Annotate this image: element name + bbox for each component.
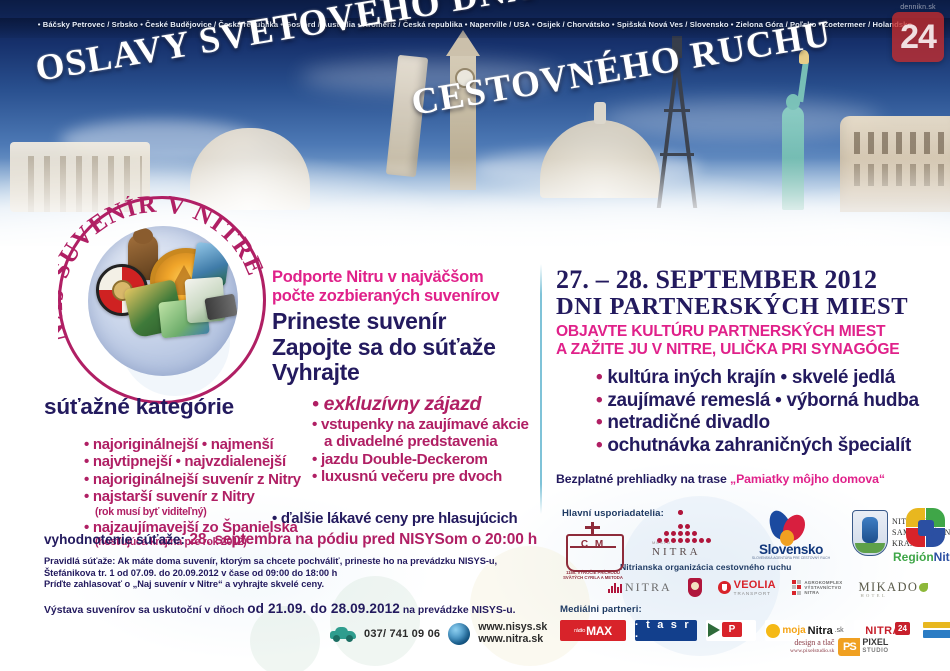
- rules-line-1: Pravidlá súťaže: Ak máte doma suvenír, k…: [44, 556, 514, 568]
- cloud-wisp: [600, 100, 880, 140]
- prize-item-last: ďalšie lákavé ceny pre hlasujúcich: [272, 510, 517, 527]
- tagline-line-1: OBJAVTE KULTÚRU PARTNERSKÝCH MIEST: [556, 323, 950, 341]
- credit-line-2: www.pixelstudio.sk: [790, 647, 834, 656]
- middle-cta: Prineste suvenír Zapojte sa do súťaže Vy…: [272, 309, 534, 386]
- rules-line-2: Štefánikova tr. 1 od 07.09. do 20.09.201…: [44, 568, 514, 580]
- list-item: netradičné divadlo: [596, 412, 950, 435]
- logo-lte: [921, 620, 950, 641]
- grid-icon: [792, 580, 802, 595]
- prize-item: vstupenky na zaujímavé akcie: [312, 416, 534, 433]
- car-icon: [330, 626, 356, 642]
- logo-word: PIXEL STUDIO: [862, 638, 888, 656]
- prizes-list: exkluzívny zájazd vstupenky na zaujímavé…: [272, 393, 534, 486]
- logo-pixel-studio: PS PIXEL STUDIO: [838, 638, 888, 656]
- website-nitra[interactable]: www.nitra.sk: [478, 634, 547, 646]
- logo-sub: HOTEL: [861, 593, 887, 598]
- exhibition-dates: od 21.09. do 28.09.2012: [247, 601, 400, 616]
- veolia-mark-icon: [718, 581, 731, 594]
- cta-bring-souvenir: Prineste suvenír: [272, 309, 534, 335]
- chevron-icon: [708, 623, 720, 637]
- logo-region-nitra: RegiónNitra: [884, 508, 950, 564]
- credit-text: design a tlač www.pixelstudio.sk: [790, 638, 834, 656]
- list-item: kultúra iných krajín • skvelé jedlá: [596, 367, 950, 390]
- web-links: www.nisys.sk www.nitra.sk: [478, 622, 547, 645]
- event-subtitle: DNI PARTNERSKÝCH MIEST: [556, 294, 950, 320]
- logo-tiny-label: MESTO: [652, 540, 671, 545]
- phone-number: 037/ 741 09 06: [364, 628, 440, 640]
- norc-logo-row: NITRA VEOLIA TRANSPORT AGROKOMPLEX VÝSTA…: [608, 578, 928, 597]
- logo-word: VEOLIA: [734, 579, 776, 591]
- logo-word: Slovensko: [748, 542, 834, 557]
- poster-root: • Báčsky Petrovec / Srbsko • České Buděj…: [0, 0, 950, 671]
- logo-word-b: Nitra: [808, 625, 833, 637]
- prize-item-continuation: a divadelné predstavenia: [312, 433, 534, 450]
- svg-text:NAJ SUVENÍR V NITRE: NAJ SUVENÍR V NITRE: [58, 196, 266, 345]
- free-tours-prefix: Bezplatné prehliadky na trase: [556, 472, 730, 486]
- credit-line-1: design a tlač: [790, 638, 834, 647]
- cta-win: Vyhrajte: [272, 360, 534, 386]
- logo-mark: PS: [838, 638, 860, 656]
- bar-shape: [923, 630, 950, 638]
- logo-radio-max: rádioMAX: [560, 620, 626, 641]
- bars-icon: [608, 582, 622, 593]
- cta-join-contest: Zapojte sa do súťaže: [272, 335, 534, 361]
- logo-word: NITRA: [652, 546, 726, 558]
- logo-center-square: [918, 520, 934, 536]
- middle-lead-line-2: počte zozbieraných suvenírov: [272, 287, 534, 306]
- rules-line-3: Príďte zahlasovať o „Naj suvenír v Nitre…: [44, 579, 514, 591]
- city-crest-icon: [688, 578, 702, 597]
- watermark-badge: 24: [892, 12, 944, 62]
- logo-badge: 24: [895, 622, 910, 635]
- middle-column: Podporte Nitru v najväčšom počte zozbier…: [272, 268, 534, 501]
- prize-item: jazdu Double-Deckerom: [312, 451, 534, 468]
- event-tagline: OBJAVTE KULTÚRU PARTNERSKÝCH MIEST A ZAŽ…: [556, 323, 950, 358]
- prize-item: exkluzívny zájazd: [312, 393, 534, 416]
- logo-word: MAX: [586, 624, 612, 638]
- middle-lead: Podporte Nitru v najväčšom počte zozbier…: [272, 268, 534, 305]
- naj-suvenir-badge: NAJ SUVENÍR V NITRE: [58, 196, 266, 404]
- bar-shape: [923, 622, 950, 628]
- logo-agrokomplex: AGROKOMPLEX VÝSTAVNÍCTVO NITRA: [792, 580, 843, 596]
- highlights-list: kultúra iných krajín • skvelé jedlá zauj…: [556, 367, 950, 457]
- media-logo-row: rádioMAX · t a s r · P mojaNitra.sk NITR…: [560, 620, 950, 641]
- contact-row: 037/ 741 09 06 www.nisys.sk www.nitra.sk: [330, 622, 547, 645]
- statue-arm: [797, 62, 809, 102]
- evaluation-line: vyhodnotenie súťaže: 28. septembra na pó…: [44, 531, 537, 549]
- logo-tasr: · t a s r ·: [635, 620, 697, 641]
- logo-slovensko: Slovensko SLOVENSKÁ AGENTÚRA PRE CESTOVN…: [748, 510, 834, 564]
- evaluation-value: 28. septembra na pódiu pred NISYSom o 20…: [189, 531, 537, 548]
- logo-line-3: NITRA: [804, 590, 842, 595]
- middle-lead-line-1: Podporte Nitru v najväčšom: [272, 268, 534, 287]
- logo-text: AGROKOMPLEX VÝSTAVNÍCTVO NITRA: [804, 580, 842, 596]
- logo-sub: TRANSPORT: [734, 591, 776, 596]
- logo-word-a: Región: [893, 550, 934, 564]
- logo-prefix: rádio: [574, 628, 585, 634]
- categories-title: súťažné kategórie: [44, 394, 234, 420]
- logo-mikado-hotel: MIKADO HOTEL: [859, 580, 929, 595]
- exhibition-suffix: na prevádzke NISYS-u.: [400, 605, 516, 616]
- badge-arc-label: NAJ SUVENÍR V NITRE: [58, 196, 266, 345]
- logo-word-b: Nitra: [934, 550, 950, 564]
- column-divider: [540, 264, 542, 514]
- dot-matrix-icon: [652, 510, 726, 544]
- tagline-line-2: A ZAŽITE JU V NITRE, ULIČKA PRI SYNAGÓGE: [556, 341, 950, 359]
- logo-word-a: moja: [782, 625, 805, 636]
- logo-word: MIKADO: [859, 580, 919, 594]
- free-tours-title: „Pamiatky môjho domova“: [730, 472, 885, 486]
- badge-arc-text: NAJ SUVENÍR V NITRE: [58, 196, 266, 404]
- logo-word: RegiónNitra: [880, 550, 950, 564]
- logo-word: P: [722, 622, 742, 637]
- list-item: ochutnávka zahraničných špecialít: [596, 435, 950, 458]
- design-credit: design a tlač www.pixelstudio.sk PS PIXE…: [790, 638, 889, 656]
- right-column: 27. – 28. SEPTEMBER 2012 DNI PARTNERSKÝC…: [556, 266, 950, 474]
- logo-cyril-metod: C M 1150. VÝROČIE PRÍCHODU SVÄTÝCH CYRIL…: [566, 522, 620, 572]
- exhibition-line: Výstava suvenírov sa uskutoční v dňoch o…: [44, 601, 515, 616]
- website-nisys[interactable]: www.nisys.sk: [478, 622, 547, 634]
- globe-icon: [448, 623, 470, 645]
- exhibition-prefix: Výstava suvenírov sa uskutoční v dňoch: [44, 605, 247, 616]
- logo-letters: C M: [579, 539, 607, 550]
- prize-item: luxusnú večeru pre dvoch: [312, 468, 534, 485]
- rules-block: Pravidlá súťaže: Ak máte doma suvenír, k…: [44, 556, 514, 591]
- logo-tiny-label: SLOVENSKÁ AGENTÚRA PRE CESTOVNÝ RUCH: [748, 556, 834, 560]
- logo-word: NITRA: [625, 580, 672, 595]
- free-tours-line: Bezplatné prehliadky na trase „Pamiatky …: [556, 472, 885, 486]
- main-organizers-label: Hlavní usporiadatelia:: [562, 508, 664, 519]
- media-partners-label: Mediálni partneri:: [560, 604, 642, 615]
- event-date: 27. – 28. SEPTEMBER 2012: [556, 266, 950, 294]
- leaf-icon: [919, 583, 928, 592]
- logo-sub: STUDIO: [862, 647, 888, 656]
- sun-icon: [766, 624, 780, 638]
- logo-veolia: VEOLIA TRANSPORT: [718, 579, 776, 596]
- logo-nitra-small: NITRA: [608, 580, 672, 595]
- logo-nitra-city: MESTO NITRA: [652, 510, 726, 564]
- list-item: zaujímavé remeslá • výborná hudba: [596, 390, 950, 413]
- logo-name: PIXEL: [862, 637, 888, 647]
- evaluation-label: vyhodnotenie súťaže:: [44, 532, 185, 547]
- logo-pulz: P: [706, 620, 756, 641]
- logo-word-c: .sk: [835, 627, 844, 634]
